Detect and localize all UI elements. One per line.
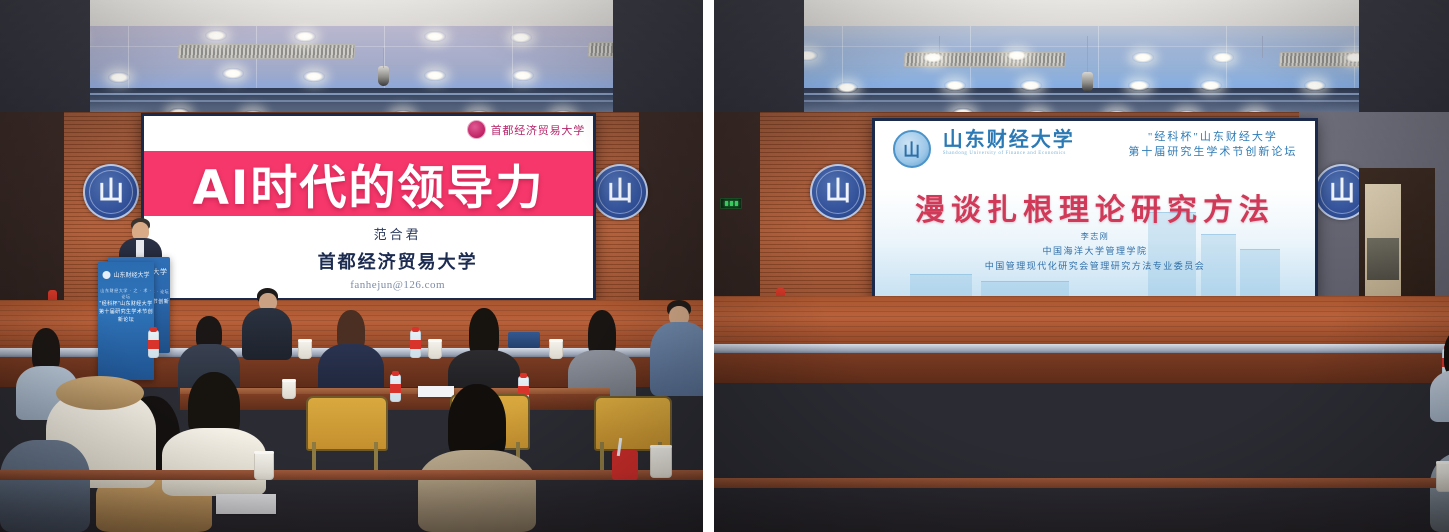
ceiling-downlight [836,82,858,93]
slide-speaker-org: 首都经济贸易大学 [318,248,478,274]
exit-light [735,201,738,206]
water-bottle [148,330,159,358]
camera-hang-rod [1087,36,1088,72]
paper-cup [428,340,442,359]
ceiling-downlight [424,70,446,81]
torso [0,440,90,532]
slide-header-strip: 首都经济贸易大学 [144,116,593,151]
exit-light [725,201,728,206]
coat [418,450,536,532]
slide-speaker-org-2: 中国管理现代化研究会管理研究方法专业委员会 [985,259,1206,272]
foreground-desk-surface [0,470,703,480]
ceiling-downlight [294,31,316,42]
ceiling-right [714,0,1449,120]
stage-floor [714,296,1449,348]
ceiling-vent [177,44,355,59]
ceiling-soffit-right [613,0,703,120]
ceiling-top-band [0,0,703,26]
emblem-ring [89,170,133,214]
slide-title-band: AI时代的领导力 [144,151,593,217]
ceiling-top-band [714,0,1449,26]
bottle-label [148,340,159,349]
exit-sign [720,198,742,209]
ceiling-downlight [1020,80,1042,91]
wall-side-dark-left [714,112,760,327]
exit-light [730,201,733,206]
projection-screen-left: 首都经济贸易大学 AI时代的领导力 范合君 首都经济贸易大学 fanhejun@… [141,113,596,301]
chair [306,396,384,478]
university-seal-icon [467,120,486,139]
slide-conference-line-1: "经科杯"山东财经大学 [1148,130,1278,145]
slide-speaker-name: 范合君 [374,224,422,243]
head-table [714,353,1449,383]
paper-cup [1436,462,1449,492]
paper-cup [298,340,312,359]
emblem-ring [816,170,860,214]
rollup-logo-text: 山东财经大学 [113,270,149,279]
slide-body: 范合君 首都经济贸易大学 fanhejun@126.com [144,216,593,298]
bottle-label [390,384,401,393]
slide-university-emblem-icon: 山 [893,130,931,168]
ceiling-downlight [944,80,966,91]
torso [650,322,703,396]
bottle-label [410,340,421,349]
slide-university-logo: 首都经济贸易大学 [467,120,585,139]
bottle-cap [520,373,527,378]
ceiling-downlight [922,52,944,63]
ceiling-downlight [222,68,244,79]
rollup-seal-icon [102,271,110,279]
sprinkler-rod [939,36,940,54]
ceiling-downlight [1006,50,1028,61]
water-bottle [390,374,401,402]
sprinkler-rod [1262,36,1263,58]
slide-header: 山 山东财经大学 Shandong University of Finance … [875,130,1315,168]
torso [1430,370,1449,422]
slide-speaker-block: 李志刚 中国海洋大学管理学院 中国管理现代化研究会管理研究方法专业委员会 [875,231,1315,272]
ceiling-downlight [512,70,534,81]
wall-emblem-left: 山 [83,164,139,220]
ceiling-soffit-right [1359,0,1449,120]
foreground-person [0,440,90,532]
ceiling-downlight [1128,80,1150,91]
audience-person [650,300,703,396]
camera-hang-rod [383,48,384,68]
ceiling-soffit-left [0,0,90,120]
ceiling-downlight [1212,52,1234,63]
emblem-ring [598,170,642,214]
foreground-person [418,384,536,532]
paper-cup [254,452,274,480]
rollup-line-1: 山东财经大学 · 之 · 术 · 论坛 [98,288,154,300]
wall-emblem-left: 山 [810,164,866,220]
slide-conference-line-2: 第十届研究生学术节创新论坛 [1128,145,1297,160]
ceiling-downlight [424,31,446,42]
wall-emblem-right: 山 [592,164,648,220]
slide-title: 漫谈扎根理论研究方法 [875,185,1315,229]
slide-university-cn: 山东财经大学 [943,130,1075,151]
bottle-cap [412,327,419,332]
ceiling-left [0,0,703,120]
ceiling-downlight [1132,52,1154,63]
doorway-sofa [1367,238,1399,280]
front-row-person [242,288,292,360]
paper-cup [650,446,672,478]
foreground-desk-surface [714,478,1449,488]
right-photo: 山 山 [714,0,1449,532]
paper-cup [282,380,296,399]
handout-paper [216,494,276,514]
hair [1444,330,1449,376]
bottle-cap [392,371,399,376]
wall-side-dark-right [639,112,703,327]
ceiling-camera-icon [378,66,389,86]
ceiling-downlight [1200,80,1222,91]
bottle-cap [150,327,157,332]
coat [162,428,266,496]
left-photo: 山 山 首都经济贸易大学 AI时代的领导力 范合君 首都经济贸易大学 [0,0,703,532]
slide-conference-block: "经科杯"山东财经大学 第十届研究生学术节创新论坛 [1128,130,1297,160]
slide-title: AI时代的领导力 [193,149,545,218]
slide-logo-text: 首都经济贸易大学 [491,122,585,138]
slide-university-block: 山东财经大学 Shandong University of Finance an… [943,130,1075,156]
ceiling-downlight [303,71,325,82]
torso [242,308,292,360]
photo-gutter [703,0,714,532]
ceiling-downlight [510,32,532,43]
paper-cup [549,340,563,359]
rollup-line-2: "经科杯"山东财经大学 第十届研究生学术节创新论坛 [98,300,154,324]
audience-person [1430,330,1449,422]
slide-speaker-name: 李志刚 [1081,231,1110,242]
emblem-ring [1320,170,1364,214]
ceiling-downlight [108,72,130,83]
ceiling-camera-icon [1082,72,1093,92]
rollup-banner-left: 山东财经大学 山东财经大学 · 之 · 术 · 论坛 "经科杯"山东财经大学 第… [98,262,154,380]
slide-speaker-email: fanhejun@126.com [350,279,445,291]
side-by-side-photo-composite: 山 山 首都经济贸易大学 AI时代的领导力 范合君 首都经济贸易大学 [0,0,1449,532]
slide-university-en: Shandong University of Finance and Econo… [943,151,1075,156]
rollup-logo: 山东财经大学 [102,270,149,279]
water-bottle [410,330,421,358]
projection-screen-right: 山 山东财经大学 Shandong University of Finance … [872,118,1318,302]
emblem-mountain-icon: 山 [903,136,920,161]
ceiling-downlight [205,30,227,41]
ceiling-soffit-left [714,0,804,120]
ceiling-downlight [1304,80,1326,91]
slide-speaker-org-1: 中国海洋大学管理学院 [1042,244,1147,257]
fur-hood [56,376,144,410]
